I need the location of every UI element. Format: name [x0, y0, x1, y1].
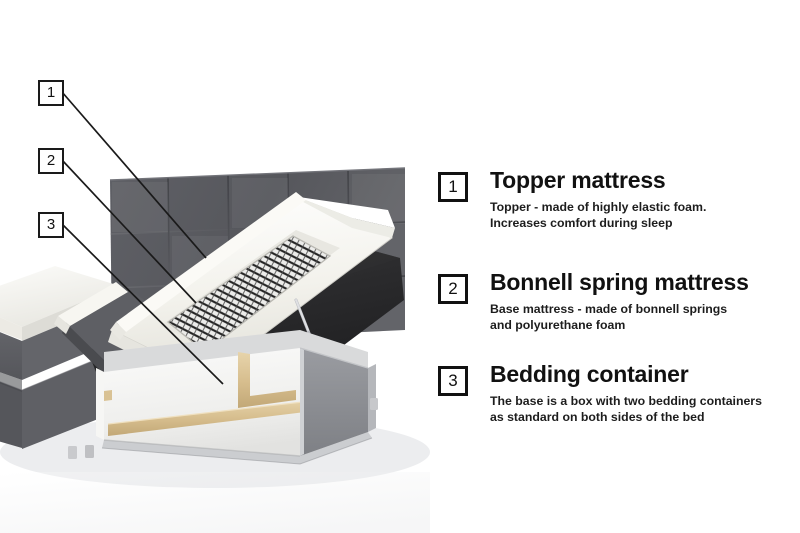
legend-text-1: Topper mattress Topper - made of highly … — [468, 168, 800, 232]
legend-description-2-line-1: Base mattress - made of bonnell springs — [490, 301, 800, 317]
callout-box-1: 1 — [38, 80, 64, 106]
legend-description-2-line-2: and polyurethane foam — [490, 317, 800, 333]
legend-description-1: Topper - made of highly elastic foam. In… — [490, 199, 800, 231]
legend-item-topper-mattress: 1 Topper mattress Topper - made of highl… — [438, 168, 800, 232]
legend-description-3-line-1: The base is a box with two bedding conta… — [490, 393, 800, 409]
legend-item-bedding-container: 3 Bedding container The base is a box wi… — [438, 362, 800, 426]
legend-description-3: The base is a box with two bedding conta… — [490, 393, 800, 425]
legend-panel: 1 Topper mattress Topper - made of highl… — [438, 0, 800, 533]
diagram-page: 1 2 3 1 Topper mattress Topper - made of… — [0, 0, 800, 533]
legend-description-1-line-1: Topper - made of highly elastic foam. — [490, 199, 800, 215]
legend-description-3-line-2: as standard on both sides of the bed — [490, 409, 800, 425]
legend-text-2: Bonnell spring mattress Base mattress - … — [468, 270, 800, 334]
legend-text-3: Bedding container The base is a box with… — [468, 362, 800, 426]
legend-number-2: 2 — [438, 274, 468, 304]
legend-title-3: Bedding container — [490, 362, 800, 386]
legend-description-2: Base mattress - made of bonnell springs … — [490, 301, 800, 333]
legend-title-1: Topper mattress — [490, 168, 800, 192]
bed-illustration: 1 2 3 — [0, 0, 430, 533]
legend-number-3: 3 — [438, 366, 468, 396]
callout-box-2: 2 — [38, 148, 64, 174]
legend-number-1: 1 — [438, 172, 468, 202]
legend-description-1-line-2: Increases comfort during sleep — [490, 215, 800, 231]
legend-item-bonnell-spring-mattress: 2 Bonnell spring mattress Base mattress … — [438, 270, 800, 334]
callout-box-3: 3 — [38, 212, 64, 238]
legend-title-2: Bonnell spring mattress — [490, 270, 800, 294]
